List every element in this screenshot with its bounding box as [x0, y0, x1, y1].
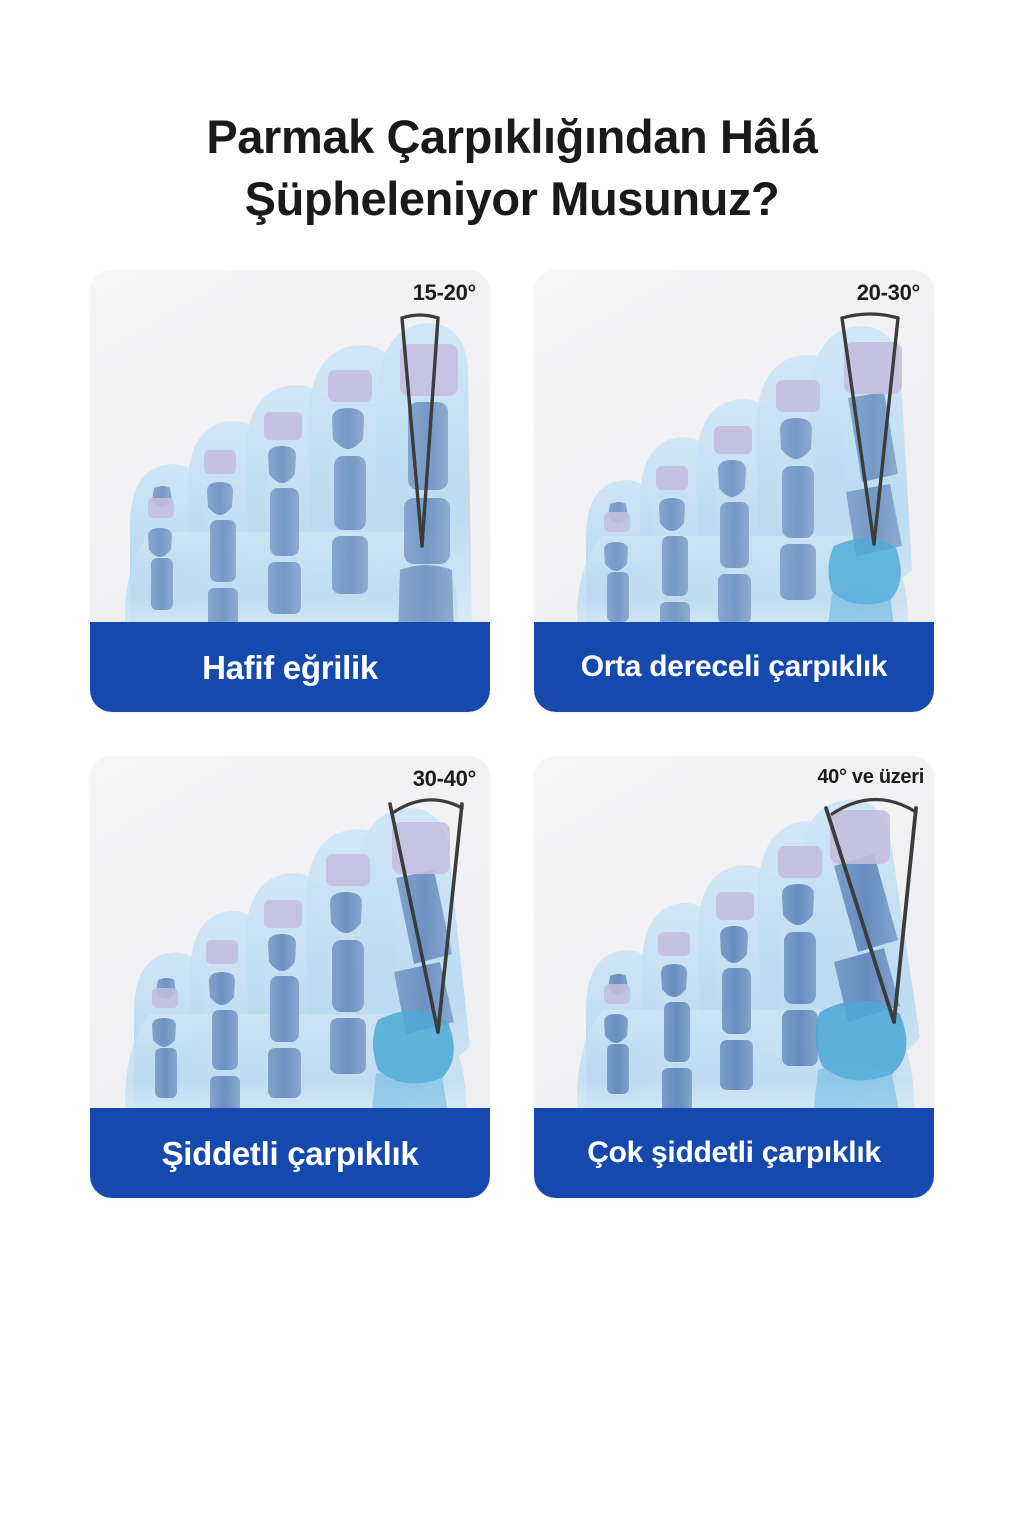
- angle-label-severe: 30-40°: [413, 766, 476, 792]
- severity-label-severe: Şiddetli çarpıklık: [162, 1137, 419, 1170]
- angle-label-mild: 15-20°: [413, 280, 476, 306]
- foot-xray-illustration-severe: [90, 756, 490, 1126]
- infographic-page: Parmak Çarpıklığından Hâlá Şüpheleniyor …: [0, 0, 1024, 1536]
- severity-banner-severe[interactable]: Şiddetli çarpıklık: [90, 1108, 490, 1198]
- severity-card-severe[interactable]: 30-40° Şiddetli çarpıklık: [90, 756, 490, 1198]
- severity-card-very-severe[interactable]: 40° ve üzeri Çok şiddetli çarpıklık: [534, 756, 934, 1198]
- severity-card-grid: 15-20° Hafif eğrilik: [90, 270, 935, 1198]
- severity-card-moderate[interactable]: 20-30° Orta dereceli çarpıklık: [534, 270, 934, 712]
- angle-label-very-severe: 40° ve üzeri: [817, 766, 924, 789]
- severity-banner-moderate[interactable]: Orta dereceli çarpıklık: [534, 622, 934, 712]
- foot-xray-illustration-moderate: [534, 270, 934, 640]
- severity-label-mild: Hafif eğrilik: [202, 651, 378, 684]
- severity-banner-mild[interactable]: Hafif eğrilik: [90, 622, 490, 712]
- severity-card-mild[interactable]: 15-20° Hafif eğrilik: [90, 270, 490, 712]
- foot-xray-illustration-mild: [90, 270, 490, 640]
- severity-label-moderate: Orta dereceli çarpıklık: [581, 652, 888, 682]
- title-line-2: Şüpheleniyor Musunuz?: [0, 168, 1024, 230]
- title-line-1: Parmak Çarpıklığından Hâlá: [0, 106, 1024, 168]
- angle-label-moderate: 20-30°: [857, 280, 920, 306]
- foot-xray-illustration-very-severe: [534, 756, 934, 1126]
- severity-banner-very-severe[interactable]: Çok şiddetli çarpıklık: [534, 1108, 934, 1198]
- page-title: Parmak Çarpıklığından Hâlá Şüpheleniyor …: [0, 106, 1024, 230]
- severity-label-very-severe: Çok şiddetli çarpıklık: [587, 1138, 881, 1168]
